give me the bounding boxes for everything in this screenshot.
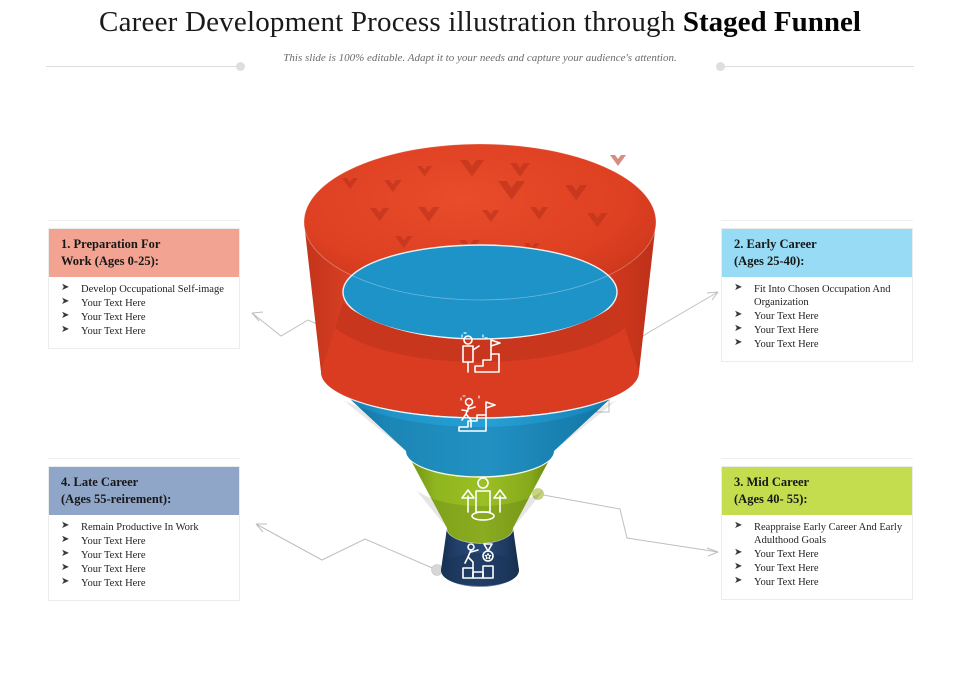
funnel-stage-1-outer-rim <box>304 144 656 300</box>
connector-arrow-2 <box>707 292 718 300</box>
list-item-text: Your Text Here <box>81 298 146 309</box>
bullet-arrow-icon: ➤ <box>61 576 69 589</box>
list-item-text: Remain Productive In Work <box>81 522 199 533</box>
list-item[interactable]: ➤Your Text Here <box>732 576 906 589</box>
list-item[interactable]: ➤Your Text Here <box>59 535 233 548</box>
page-title-bold: Staged Funnel <box>683 6 861 38</box>
funnel-stage-2-top-ellipse <box>321 326 639 418</box>
funnel-stage-3-body <box>406 451 554 543</box>
callout-box-mid-career[interactable]: 3. Mid Career (Ages 40- 55): ➤Reappraise… <box>721 466 913 600</box>
funnel-stage-1-front-wall <box>321 303 639 417</box>
funnel-stage-3-top-ellipse <box>406 425 554 477</box>
list-item-text: Fit Into Chosen Occupation And Organizat… <box>754 284 891 308</box>
connector-dot-3 <box>533 489 544 500</box>
callout-2-header: 2. Early Career (Ages 25-40): <box>722 229 912 277</box>
bullet-arrow-icon: ➤ <box>734 520 742 533</box>
connector-lines <box>252 292 718 570</box>
callout-4-header-line2: (Ages 55-reirement): <box>61 491 230 508</box>
list-item[interactable]: ➤Your Text Here <box>732 548 906 561</box>
callout-box-late-career[interactable]: 4. Late Career (Ages 55-reirement): ➤Rem… <box>48 466 240 601</box>
list-item-text: Your Text Here <box>754 563 819 574</box>
connector-dot-2 <box>561 407 572 418</box>
callout-2-header-line2: (Ages 25-40): <box>734 253 903 270</box>
bullet-arrow-icon: ➤ <box>734 547 742 560</box>
callout-stub-4 <box>48 458 240 459</box>
callout-1-header: 1. Preparation For Work (Ages 0-25): <box>49 229 239 277</box>
bullet-arrow-icon: ➤ <box>61 324 69 337</box>
page-title: Career Development Process illustration … <box>0 6 960 39</box>
funnel-stage-3[interactable] <box>406 425 554 543</box>
connector-line-1 <box>252 313 377 350</box>
funnel-stage-1-inner-blue <box>343 245 617 339</box>
funnel-stage-4[interactable] <box>441 513 519 587</box>
callout-1-header-line1: 1. Preparation For <box>61 237 160 251</box>
list-item[interactable]: ➤Reappraise Early Career And Early Adult… <box>732 521 906 547</box>
bullet-arrow-icon: ➤ <box>61 562 69 575</box>
list-item[interactable]: ➤Your Text Here <box>59 563 233 576</box>
person-podium-medal-icon <box>463 544 493 578</box>
bullet-arrow-icon: ➤ <box>734 323 742 336</box>
person-stairs-flag-icon <box>462 333 500 372</box>
list-item-text: Your Text Here <box>81 326 146 337</box>
list-item[interactable]: ➤Fit Into Chosen Occupation And Organiza… <box>732 283 906 309</box>
list-item[interactable]: ➤Your Text Here <box>59 311 233 324</box>
bullet-arrow-icon: ➤ <box>61 548 69 561</box>
person-running-upstairs-icon <box>459 396 495 431</box>
callout-2-list: ➤Fit Into Chosen Occupation And Organiza… <box>722 277 912 362</box>
connector-arrow-3 <box>707 548 718 556</box>
list-item[interactable]: ➤Your Text Here <box>59 297 233 310</box>
connector-endpoint-dots <box>372 345 572 576</box>
person-up-arrows-icon <box>462 478 506 520</box>
callout-3-list: ➤Reappraise Early Career And Early Adult… <box>722 515 912 600</box>
slide-subtitle: This slide is 100% editable. Adapt it to… <box>0 52 960 64</box>
list-item-text: Your Text Here <box>81 312 146 323</box>
list-item-text: Develop Occupational Self-image <box>81 284 224 295</box>
connector-arrow-4 <box>256 524 267 532</box>
list-item[interactable]: ➤Your Text Here <box>59 325 233 338</box>
bullet-arrow-icon: ➤ <box>734 309 742 322</box>
list-item-text: Your Text Here <box>81 564 146 575</box>
callout-stub-1 <box>48 220 240 221</box>
funnel-stage-2-top-rim <box>321 326 639 418</box>
connector-line-2 <box>566 292 718 412</box>
connector-arrow-1 <box>252 312 263 321</box>
funnel-stage-1-inner-rim <box>343 245 617 339</box>
funnel-stage-4-body <box>441 528 519 586</box>
slide-canvas: Career Development Process illustration … <box>0 0 960 675</box>
list-item[interactable]: ➤Develop Occupational Self-image <box>59 283 233 296</box>
bullet-arrow-icon: ➤ <box>734 282 742 295</box>
list-item[interactable]: ➤Your Text Here <box>59 549 233 562</box>
list-item-text: Your Text Here <box>81 550 146 561</box>
callout-4-header: 4. Late Career (Ages 55-reirement): <box>49 467 239 515</box>
callout-3-header-line2: (Ages 40- 55): <box>734 491 903 508</box>
funnel-stage-3-inner-shadow <box>416 490 544 543</box>
connector-line-3 <box>538 494 718 552</box>
list-item[interactable]: ➤Your Text Here <box>732 562 906 575</box>
callout-1-header-line2: Work (Ages 0-25): <box>61 253 230 270</box>
funnel-stage-2-inner-shadow <box>343 400 617 476</box>
list-item-text: Your Text Here <box>754 339 819 350</box>
list-item-text: Your Text Here <box>81 578 146 589</box>
connector-line-4 <box>256 524 437 570</box>
callout-3-header-line1: 3. Mid Career <box>734 475 809 489</box>
callout-box-early-career[interactable]: 2. Early Career (Ages 25-40): ➤Fit Into … <box>721 228 913 362</box>
list-item[interactable]: ➤Your Text Here <box>59 577 233 590</box>
callout-box-preparation-for-work[interactable]: 1. Preparation For Work (Ages 0-25): ➤De… <box>48 228 240 349</box>
list-item[interactable]: ➤Your Text Here <box>732 324 906 337</box>
funnel-stage-3-top-shade <box>406 425 554 477</box>
funnel-stage-1[interactable] <box>304 144 656 417</box>
decorative-dot-left <box>236 62 245 71</box>
callout-stub-2 <box>721 220 913 221</box>
list-item[interactable]: ➤Remain Productive In Work <box>59 521 233 534</box>
list-item-text: Your Text Here <box>81 536 146 547</box>
callout-4-header-line1: 4. Late Career <box>61 475 138 489</box>
bullet-arrow-icon: ➤ <box>61 310 69 323</box>
list-item-text: Your Text Here <box>754 577 819 588</box>
decorative-rule-right <box>722 66 914 67</box>
funnel-arrow-pattern <box>342 155 626 254</box>
bullet-arrow-icon: ➤ <box>61 282 69 295</box>
list-item-text: Your Text Here <box>754 549 819 560</box>
funnel-stage-1-bowl <box>304 144 656 300</box>
list-item[interactable]: ➤Your Text Here <box>732 338 906 351</box>
page-title-normal: Career Development Process illustration … <box>99 6 683 38</box>
list-item-text: Reappraise Early Career And Early Adulth… <box>754 522 902 546</box>
list-item[interactable]: ➤Your Text Here <box>732 310 906 323</box>
funnel-stage-4-top-ellipse <box>447 513 513 543</box>
bullet-arrow-icon: ➤ <box>734 561 742 574</box>
bullet-arrow-icon: ➤ <box>734 575 742 588</box>
funnel-stage-4-bottom-ellipse <box>441 553 519 587</box>
callout-2-header-line1: 2. Early Career <box>734 237 817 251</box>
funnel-stage-2[interactable] <box>321 326 639 476</box>
bullet-arrow-icon: ➤ <box>61 534 69 547</box>
funnel-stage-2-body <box>321 372 639 476</box>
bullet-arrow-icon: ➤ <box>734 337 742 350</box>
connector-dot-4 <box>432 565 443 576</box>
funnel-stage-3-top-rim <box>406 425 554 477</box>
funnel-stage-1-liquid-helper <box>318 245 642 300</box>
connector-dot-1 <box>372 345 383 356</box>
decorative-dot-right <box>716 62 725 71</box>
funnel-stage-1-front-shade <box>335 303 625 362</box>
funnel-stage-4-top-rim <box>447 513 513 543</box>
list-item-text: Your Text Here <box>754 325 819 336</box>
list-item-text: Your Text Here <box>754 311 819 322</box>
bullet-arrow-icon: ➤ <box>61 296 69 309</box>
callout-4-list: ➤Remain Productive In Work ➤Your Text He… <box>49 515 239 601</box>
callout-1-list: ➤Develop Occupational Self-image ➤Your T… <box>49 277 239 349</box>
funnel-stage-1-body <box>304 222 656 417</box>
callout-3-header: 3. Mid Career (Ages 40- 55): <box>722 467 912 515</box>
funnel-stage-4-top-shade <box>447 513 513 543</box>
decorative-rule-left <box>46 66 242 67</box>
bullet-arrow-icon: ➤ <box>61 520 69 533</box>
callout-stub-3 <box>721 458 913 459</box>
